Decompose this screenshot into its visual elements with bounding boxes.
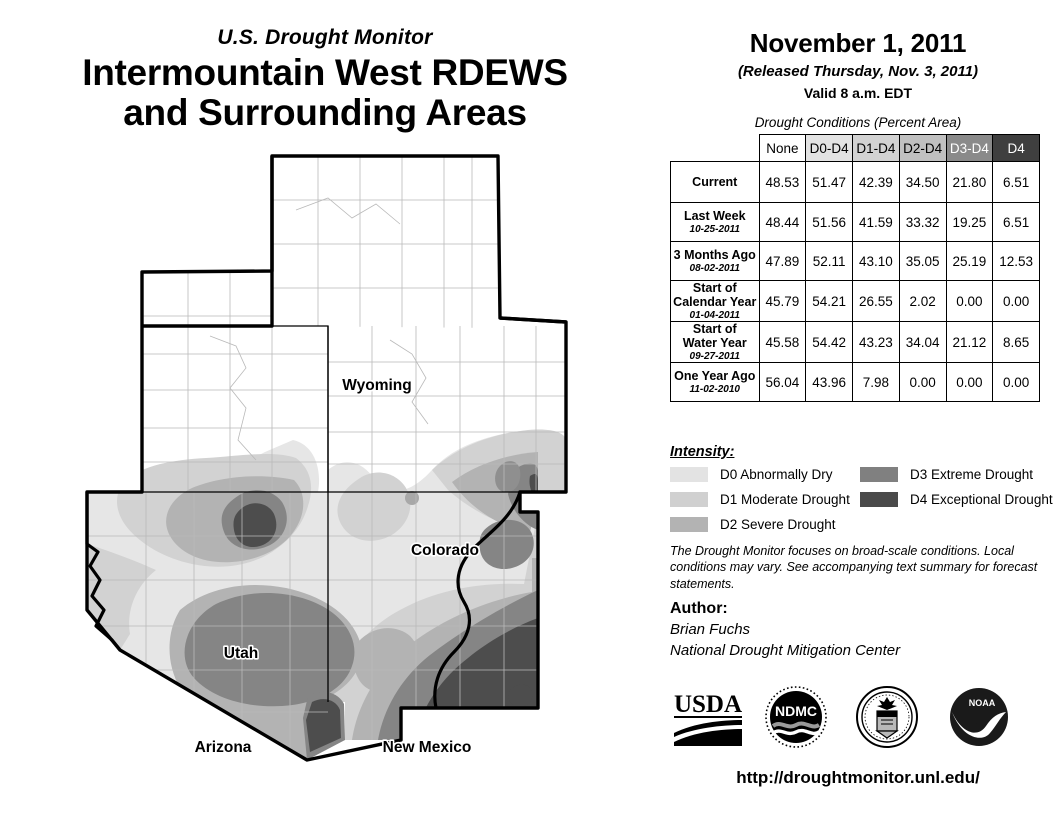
table-cell: 6.51 [993, 203, 1040, 242]
noaa-logo-text: NOAA [969, 698, 996, 708]
drought-map: Wyoming Utah Colorado Arizona New Mexico [60, 140, 660, 785]
disclaimer-text: The Drought Monitor focuses on broad-sca… [670, 543, 1050, 592]
row-date: 01-04-2011 [671, 310, 759, 321]
row-label: Start ofWater Year09-27-2011 [671, 322, 760, 363]
header-d1-d4: D1-D4 [853, 135, 900, 162]
title-block: U.S. Drought Monitor Intermountain West … [0, 26, 650, 133]
legend-item-d4: D4 Exceptional Drought [860, 492, 1053, 507]
table-cell: 54.42 [806, 322, 853, 363]
table-cell: 42.39 [853, 162, 900, 203]
program-title: U.S. Drought Monitor [0, 26, 650, 50]
row-label-line: Current [671, 175, 759, 189]
page-title-line1: Intermountain West RDEWS [0, 53, 650, 93]
table-cell: 47.89 [759, 242, 806, 281]
table-cell: 21.12 [946, 322, 993, 363]
row-label: Start ofCalendar Year01-04-2011 [671, 281, 760, 322]
table-cell: 0.00 [946, 281, 993, 322]
table-cell: 45.79 [759, 281, 806, 322]
drought-monitor-page: U.S. Drought Monitor Intermountain West … [0, 0, 1056, 816]
row-label: Current [671, 162, 760, 203]
table-cell: 19.25 [946, 203, 993, 242]
table-cell: 56.04 [759, 363, 806, 402]
legend-label-d4: D4 Exceptional Drought [910, 492, 1053, 507]
info-panel: November 1, 2011 (Released Thursday, Nov… [660, 0, 1056, 816]
state-label-arizona: Arizona [195, 739, 252, 756]
valid-date: November 1, 2011 [660, 28, 1056, 59]
table-cell: 21.80 [946, 162, 993, 203]
d2-spot [405, 491, 419, 505]
legend-items: D0 Abnormally Dry D1 Moderate Drought D2… [670, 467, 1050, 535]
table-cell: 34.04 [899, 322, 946, 363]
state-label-utah: Utah [224, 645, 258, 662]
row-label-line: 3 Months Ago [671, 248, 759, 262]
author-heading: Author: [670, 600, 728, 618]
table-row: Current48.5351.4742.3934.5021.806.51 [671, 162, 1040, 203]
table-cell: 0.00 [946, 363, 993, 402]
row-label-line: Water Year [671, 336, 759, 350]
row-date: 08-02-2011 [671, 263, 759, 274]
table-cell: 48.44 [759, 203, 806, 242]
row-label: One Year Ago11-02-2010 [671, 363, 760, 402]
table-cell: 8.65 [993, 322, 1040, 363]
noaa-logo: NOAA [948, 686, 1010, 753]
legend-item-d3: D3 Extreme Drought [860, 467, 1033, 482]
header-d2-d4: D2-D4 [899, 135, 946, 162]
valid-time: Valid 8 a.m. EDT [660, 85, 1056, 101]
swatch-d1-icon [670, 492, 708, 507]
state-label-colorado: Colorado [411, 542, 479, 559]
table-cell: 51.47 [806, 162, 853, 203]
ndmc-logo: NDMC [765, 686, 827, 753]
legend-item-d0: D0 Abnormally Dry [670, 467, 833, 482]
row-label-line: Calendar Year [671, 295, 759, 309]
row-date: 09-27-2011 [671, 351, 759, 362]
table-header-row: None D0-D4 D1-D4 D2-D4 D3-D4 D4 [671, 135, 1040, 162]
row-label-line: Last Week [671, 209, 759, 223]
legend-title: Intensity: [670, 444, 1050, 460]
header-d0-d4: D0-D4 [806, 135, 853, 162]
usdc-seal-logo [856, 686, 918, 753]
row-label-line: Start of [671, 322, 759, 336]
legend-item-d2: D2 Severe Drought [670, 517, 836, 532]
page-title-line2: and Surrounding Areas [0, 93, 650, 133]
row-label-line: Start of [671, 281, 759, 295]
author-info: Brian Fuchs National Drought Mitigation … [670, 620, 900, 661]
table-row: Start ofWater Year09-27-201145.5854.4243… [671, 322, 1040, 363]
release-date: (Released Thursday, Nov. 3, 2011) [660, 63, 1056, 80]
table-cell: 54.21 [806, 281, 853, 322]
table-cell: 51.56 [806, 203, 853, 242]
legend-label-d3: D3 Extreme Drought [910, 467, 1033, 482]
table-cell: 52.11 [806, 242, 853, 281]
table-row: Last Week10-25-201148.4451.5641.5933.321… [671, 203, 1040, 242]
table-cell: 43.23 [853, 322, 900, 363]
table-cell: 0.00 [993, 281, 1040, 322]
table-cell: 12.53 [993, 242, 1040, 281]
table-cell: 43.10 [853, 242, 900, 281]
row-label: Last Week10-25-2011 [671, 203, 760, 242]
swatch-d0-icon [670, 467, 708, 482]
table-cell: 26.55 [853, 281, 900, 322]
table-cell: 25.19 [946, 242, 993, 281]
swatch-d3-icon [860, 467, 898, 482]
drought-conditions-table: None D0-D4 D1-D4 D2-D4 D3-D4 D4 Current4… [670, 134, 1040, 402]
table-row: Start ofCalendar Year01-04-201145.7954.2… [671, 281, 1040, 322]
usda-logo-text: USDA [674, 691, 742, 718]
table-cell: 43.96 [806, 363, 853, 402]
header-none: None [759, 135, 806, 162]
swatch-d4-icon [860, 492, 898, 507]
legend-label-d0: D0 Abnormally Dry [720, 467, 833, 482]
author-org: National Drought Mitigation Center [670, 641, 900, 662]
row-label: 3 Months Ago08-02-2011 [671, 242, 760, 281]
logo-row: USDA NDMC [660, 686, 1056, 756]
table-caption: Drought Conditions (Percent Area) [660, 115, 1056, 130]
header-d4: D4 [993, 135, 1040, 162]
table-row: 3 Months Ago08-02-201147.8952.1143.1035.… [671, 242, 1040, 281]
author-name: Brian Fuchs [670, 620, 900, 641]
table-cell: 0.00 [993, 363, 1040, 402]
row-date: 10-25-2011 [671, 224, 759, 235]
ndmc-logo-text: NDMC [775, 703, 817, 719]
row-date: 11-02-2010 [671, 384, 759, 395]
header-blank [671, 135, 760, 162]
legend-item-d1: D1 Moderate Drought [670, 492, 850, 507]
row-label-line: One Year Ago [671, 369, 759, 383]
table-cell: 35.05 [899, 242, 946, 281]
state-label-wyoming: Wyoming [342, 377, 411, 394]
table-cell: 41.59 [853, 203, 900, 242]
intensity-legend: Intensity: D0 Abnormally Dry D1 Moderate… [670, 444, 1050, 535]
legend-label-d1: D1 Moderate Drought [720, 492, 850, 507]
state-label-new-mexico: New Mexico [383, 739, 472, 756]
table-cell: 6.51 [993, 162, 1040, 203]
table-cell: 7.98 [853, 363, 900, 402]
table-cell: 48.53 [759, 162, 806, 203]
usda-logo: USDA [668, 686, 748, 753]
table-cell: 0.00 [899, 363, 946, 402]
table-cell: 2.02 [899, 281, 946, 322]
swatch-d2-icon [670, 517, 708, 532]
table-cell: 45.58 [759, 322, 806, 363]
table-cell: 33.32 [899, 203, 946, 242]
website-url[interactable]: http://droughtmonitor.unl.edu/ [660, 768, 1056, 788]
header-d3-d4: D3-D4 [946, 135, 993, 162]
legend-label-d2: D2 Severe Drought [720, 517, 836, 532]
table-cell: 34.50 [899, 162, 946, 203]
table-body: Current48.5351.4742.3934.5021.806.51Last… [671, 162, 1040, 402]
table-row: One Year Ago11-02-201056.0443.967.980.00… [671, 363, 1040, 402]
